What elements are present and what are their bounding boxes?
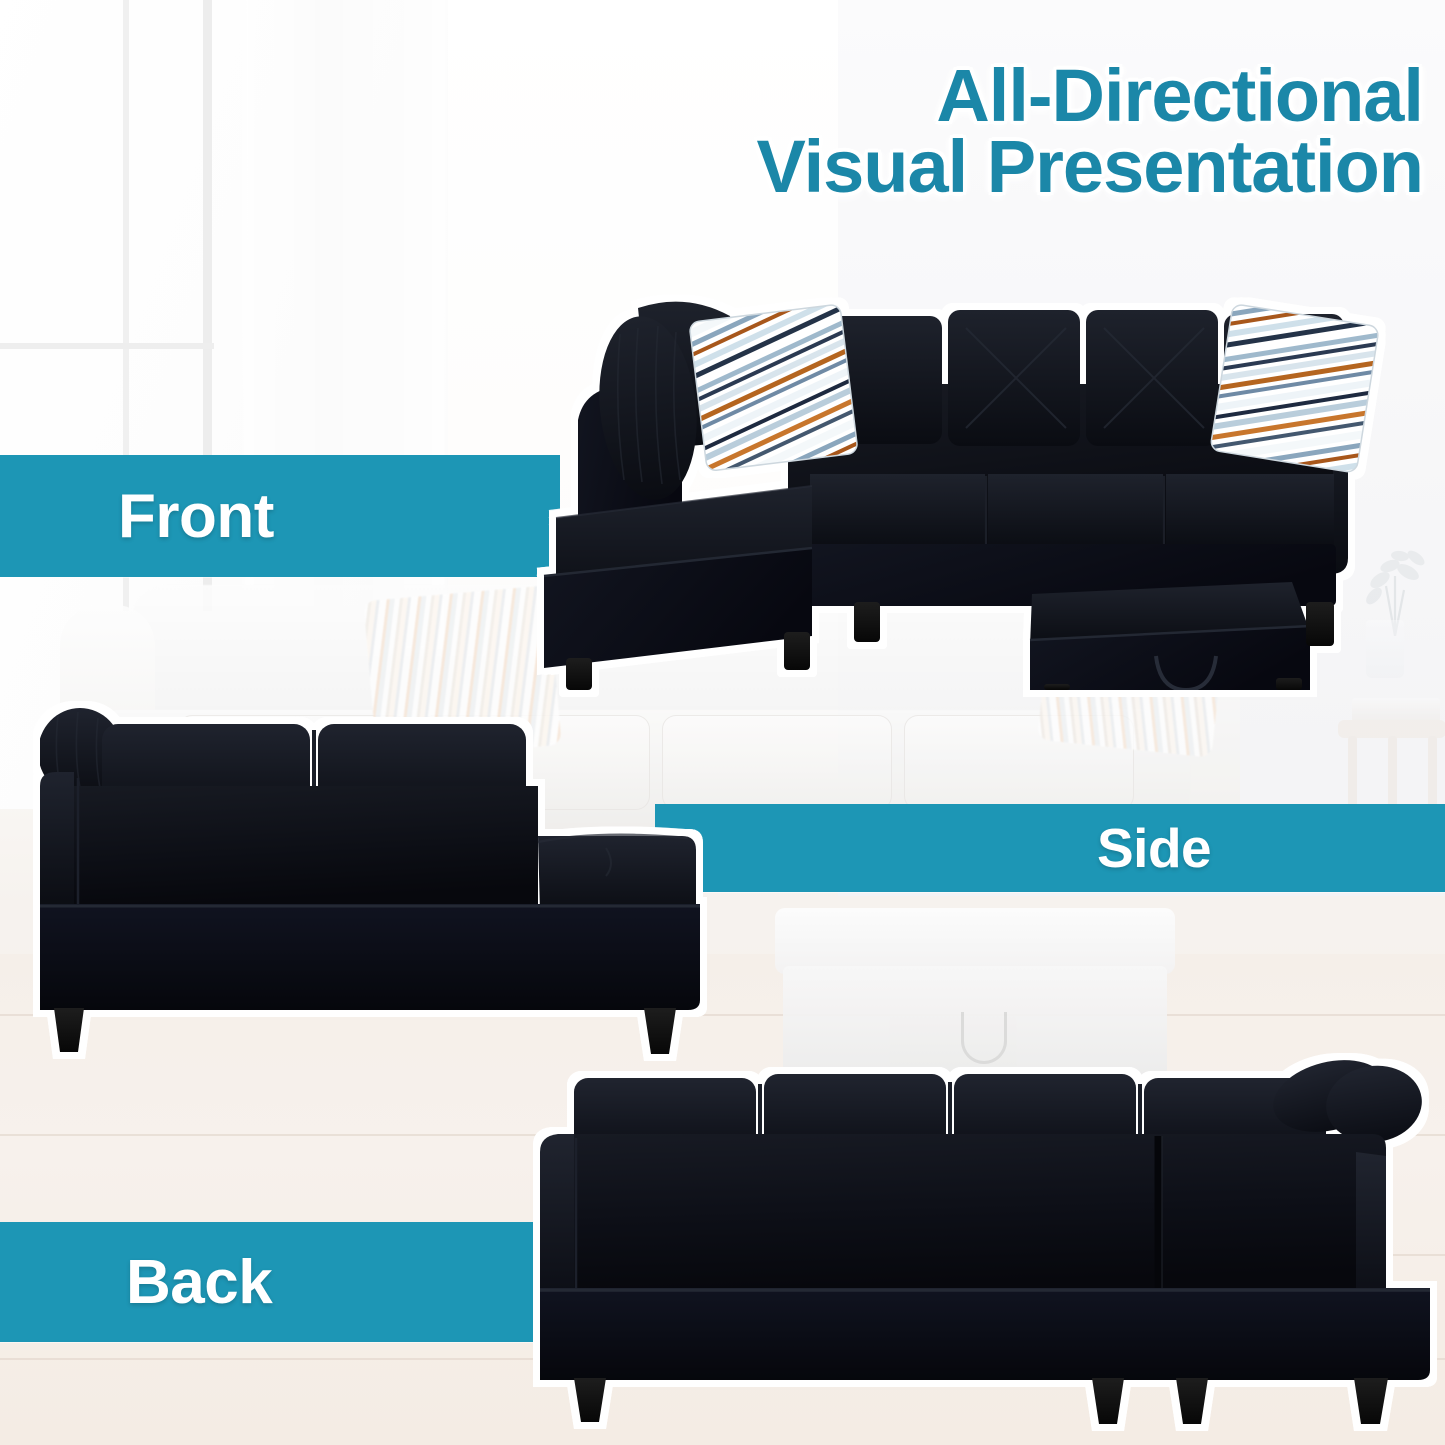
headline-line-2: Visual Presentation (603, 131, 1423, 202)
product-view-front: Black velvet L-shaped sectional, front t… (520, 280, 1420, 690)
banner-front-label: Front (118, 481, 274, 552)
product-view-side: Side profile of the sectional showing lo… (40, 690, 720, 1080)
window-mullion-horizontal (0, 343, 214, 349)
banner-back: Back (0, 1222, 540, 1342)
background-side-table (1338, 690, 1445, 820)
banner-side: Side (655, 804, 1445, 892)
banner-side-label: Side (1097, 816, 1211, 880)
banner-front: Front (0, 455, 560, 577)
background-books (1352, 698, 1440, 722)
infographic-canvas: Front Side Back All-Directional Visual P… (0, 0, 1445, 1445)
headline-line-1: All-Directional (603, 60, 1423, 131)
banner-back-label: Back (126, 1247, 272, 1318)
product-view-back: Rear view of the sectional showing fully… (540, 1048, 1430, 1438)
headline: All-Directional Visual Presentation (603, 60, 1423, 202)
